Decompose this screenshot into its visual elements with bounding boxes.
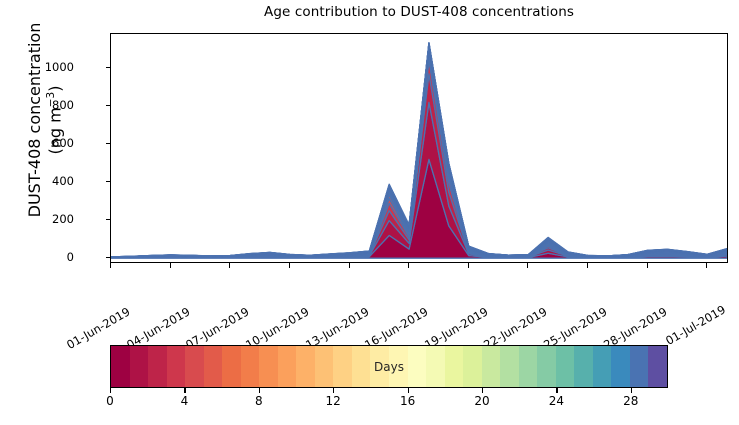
x-tick-mark xyxy=(706,263,707,268)
stacked-area-series xyxy=(111,34,727,262)
colorbar-tick-label: 0 xyxy=(106,394,114,408)
colorbar-segment xyxy=(389,346,408,387)
x-tick-mark xyxy=(468,263,469,268)
colorbar-segment xyxy=(333,346,352,387)
x-tick-mark xyxy=(110,263,111,268)
colorbar-segment xyxy=(370,346,389,387)
colorbar[interactable] xyxy=(110,345,668,388)
colorbar-tick-label: 12 xyxy=(326,394,341,408)
plot-area xyxy=(110,33,728,263)
colorbar-segment xyxy=(296,346,315,387)
colorbar-segment xyxy=(630,346,649,387)
y-tick-label: 1000 xyxy=(45,60,81,74)
y-tick-label: 600 xyxy=(52,136,81,150)
colorbar-segment xyxy=(482,346,501,387)
x-tick-mark xyxy=(229,263,230,268)
colorbar-segment xyxy=(148,346,167,387)
colorbar-segment xyxy=(222,346,241,387)
x-tick-mark xyxy=(408,263,409,268)
colorbar-segment xyxy=(204,346,223,387)
colorbar-segment xyxy=(408,346,427,387)
colorbar-segment xyxy=(352,346,371,387)
chart-title: Age contribution to DUST-408 concentrati… xyxy=(110,4,728,20)
colorbar-tick-mark xyxy=(482,388,483,393)
colorbar-tick-mark xyxy=(631,388,632,393)
x-tick-label: 01-Jul-2019 xyxy=(663,302,728,347)
x-tick-mark xyxy=(289,263,290,268)
y-tick-label: 400 xyxy=(52,174,81,188)
colorbar-segment xyxy=(241,346,260,387)
colorbar-segment xyxy=(556,346,575,387)
colorbar-segment xyxy=(185,346,204,387)
colorbar-tick-mark xyxy=(110,388,111,393)
colorbar-segment xyxy=(167,346,186,387)
x-tick-mark xyxy=(587,263,588,268)
colorbar-tick-label: 24 xyxy=(549,394,564,408)
colorbar-segment xyxy=(519,346,538,387)
colorbar-tick-label: 20 xyxy=(474,394,489,408)
x-tick-mark xyxy=(170,263,171,268)
colorbar-tick-label: 28 xyxy=(623,394,638,408)
colorbar-tick-mark xyxy=(556,388,557,393)
colorbar-segment xyxy=(315,346,334,387)
x-tick-mark xyxy=(647,263,648,268)
colorbar-segment xyxy=(130,346,149,387)
colorbar-segment xyxy=(611,346,630,387)
x-tick-mark xyxy=(349,263,350,268)
colorbar-tick-label: 4 xyxy=(181,394,189,408)
colorbar-tick-mark xyxy=(408,388,409,393)
colorbar-tick-label: 8 xyxy=(255,394,263,408)
x-tick-mark xyxy=(527,263,528,268)
colorbar-tick-mark xyxy=(184,388,185,393)
colorbar-segment xyxy=(463,346,482,387)
colorbar-segment xyxy=(426,346,445,387)
y-axis-ticks: 02004006008001000 xyxy=(0,0,110,425)
colorbar-segment xyxy=(648,346,667,387)
y-tick-label: 200 xyxy=(52,212,81,226)
colorbar-tick-label: 16 xyxy=(400,394,415,408)
y-tick-label: 800 xyxy=(52,98,81,112)
colorbar-tick-mark xyxy=(333,388,334,393)
colorbar-tick-mark xyxy=(259,388,260,393)
colorbar-segment xyxy=(259,346,278,387)
colorbar-segment xyxy=(574,346,593,387)
colorbar-segment xyxy=(278,346,297,387)
colorbar-segment xyxy=(500,346,519,387)
colorbar-segment xyxy=(537,346,556,387)
colorbar-segment xyxy=(445,346,464,387)
colorbar-segment xyxy=(111,346,130,387)
colorbar-segment xyxy=(593,346,612,387)
y-tick-label: 0 xyxy=(67,250,81,264)
